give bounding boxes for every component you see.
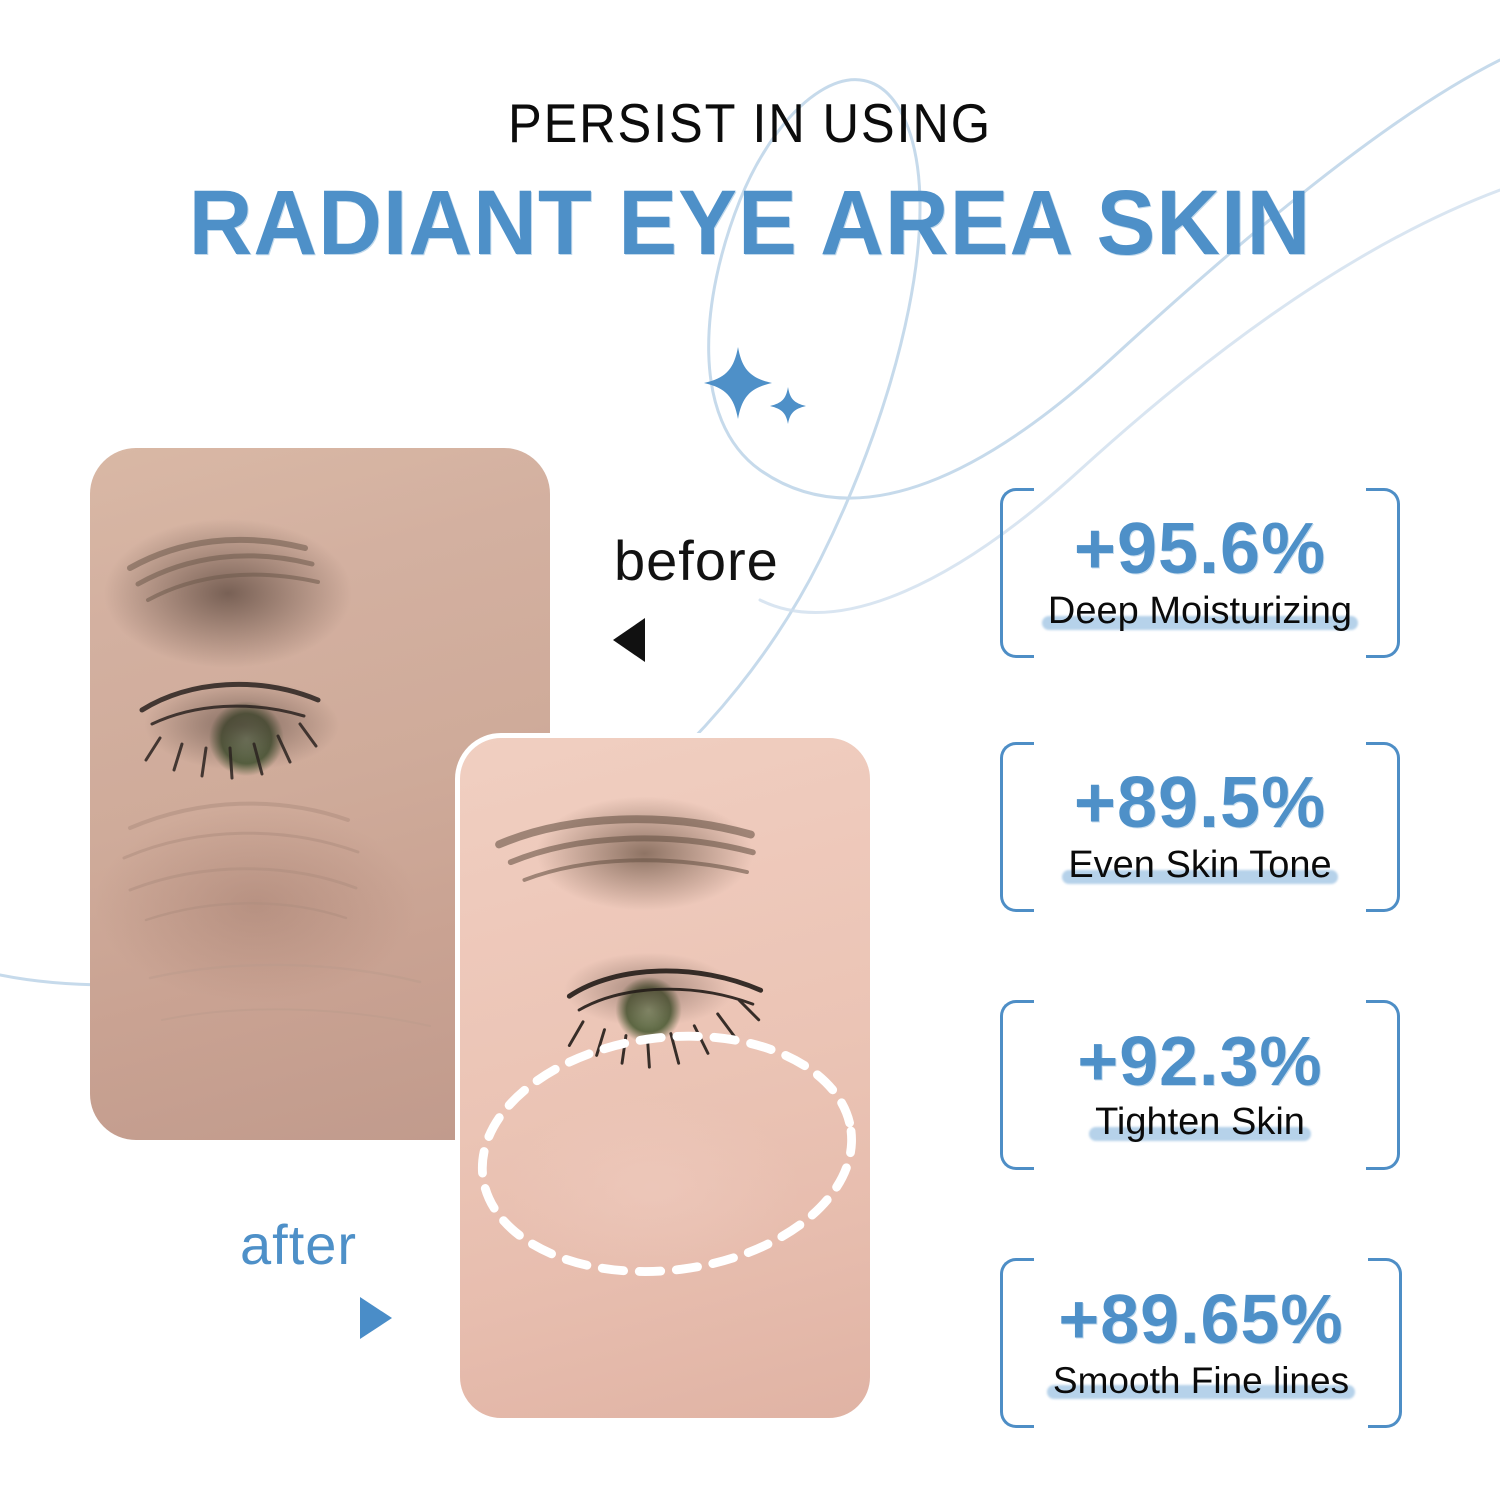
stat-value: +92.3% — [1077, 1026, 1322, 1097]
headline-subtitle: PERSIST IN USING — [60, 96, 1440, 151]
headline-block: PERSIST IN USING RADIANT EYE AREA SKIN — [0, 96, 1500, 269]
stat-label: Smooth Fine lines — [1053, 1360, 1349, 1402]
bracket-right-icon — [1366, 488, 1400, 658]
stat-value: +89.65% — [1058, 1284, 1343, 1355]
stat-card-tighten-skin: +92.3% Tighten Skin — [1000, 1000, 1400, 1170]
after-label: after — [240, 1212, 357, 1277]
sparkle-icon — [704, 347, 772, 419]
stat-label-wrap: Deep Moisturizing — [1042, 590, 1358, 633]
after-triangle-icon — [360, 1297, 392, 1339]
stat-label-wrap: Tighten Skin — [1089, 1101, 1311, 1144]
bracket-left-icon — [1000, 742, 1034, 912]
after-photo — [455, 733, 875, 1423]
bracket-left-icon — [1000, 1000, 1034, 1170]
stat-label: Even Skin Tone — [1068, 844, 1331, 887]
stat-label-wrap: Even Skin Tone — [1062, 844, 1337, 887]
after-photo-detail — [460, 738, 870, 1418]
stat-label-wrap: Smooth Fine lines — [1047, 1360, 1355, 1402]
stat-value: +89.5% — [1074, 767, 1326, 840]
stat-label: Tighten Skin — [1095, 1101, 1305, 1144]
sparkle-decoration — [700, 345, 820, 425]
stat-card-deep-moisturizing: +95.6% Deep Moisturizing — [1000, 488, 1400, 658]
sparkle-icon — [770, 387, 806, 424]
infographic-page: PERSIST IN USING RADIANT EYE AREA SKIN — [0, 0, 1500, 1500]
stat-card-even-skin-tone: +89.5% Even Skin Tone — [1000, 742, 1400, 912]
bracket-right-icon — [1366, 742, 1400, 912]
stat-value: +95.6% — [1074, 513, 1326, 586]
bracket-right-icon — [1366, 1000, 1400, 1170]
bracket-left-icon — [1000, 488, 1034, 658]
stat-label: Deep Moisturizing — [1048, 590, 1352, 633]
stat-card-smooth-fine-lines: +89.65% Smooth Fine lines — [1000, 1258, 1402, 1428]
before-triangle-icon — [613, 618, 645, 662]
headline-title: RADIANT EYE AREA SKIN — [30, 177, 1470, 269]
before-label: before — [614, 528, 779, 593]
dashed-ellipse-highlight — [469, 1016, 865, 1292]
